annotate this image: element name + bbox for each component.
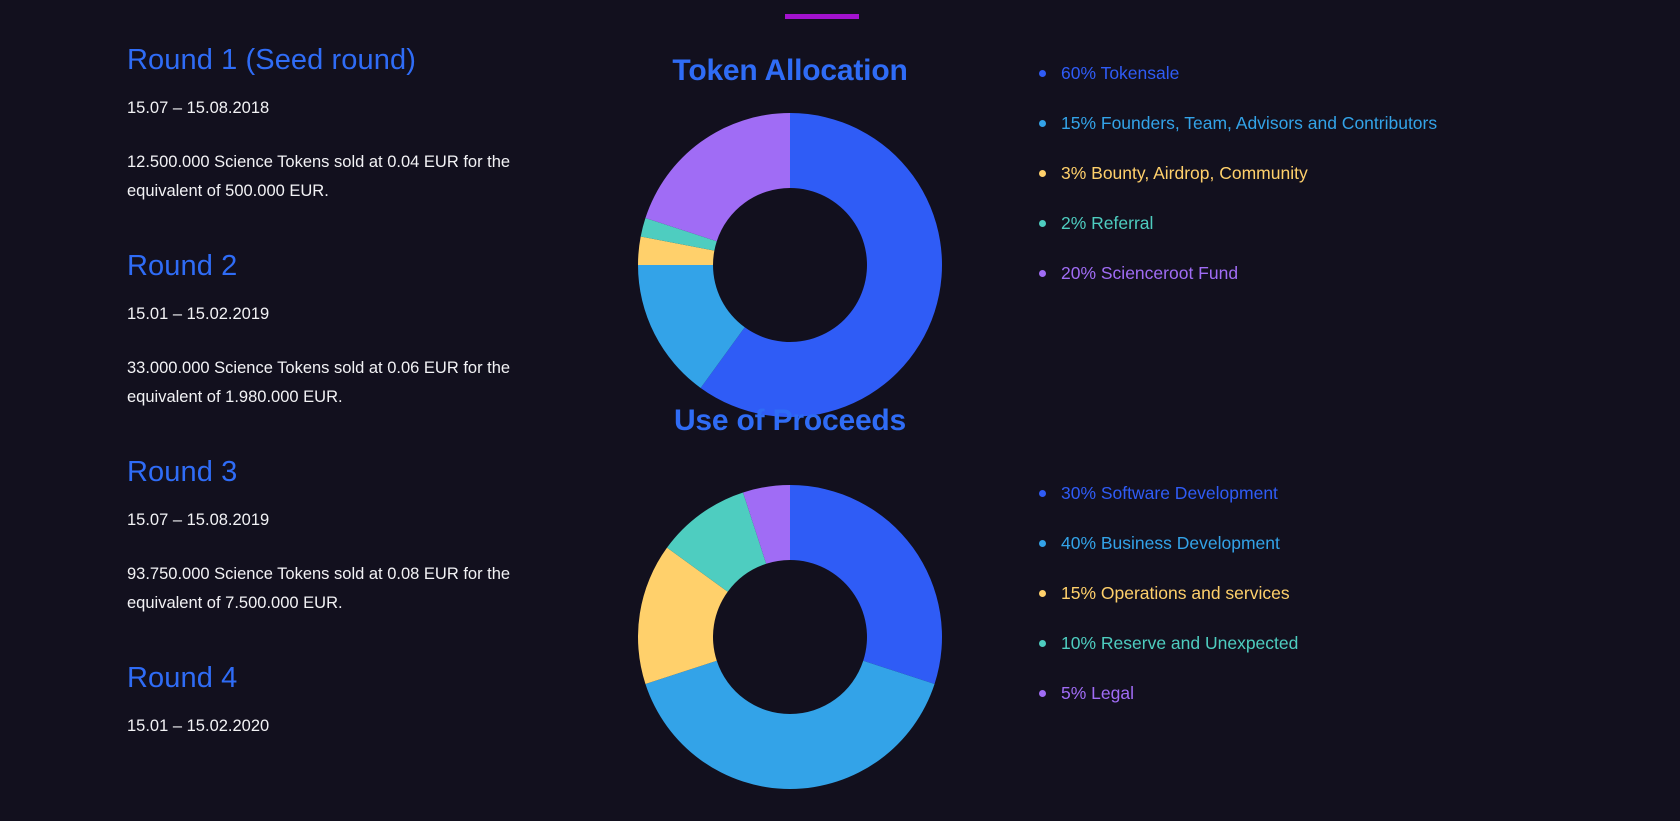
legend-item: 60% Tokensale [1035, 48, 1465, 98]
legend-label: 60% Tokensale [1061, 63, 1179, 83]
legend-item: 10% Reserve and Unexpected [1035, 618, 1465, 668]
round-block: Round 1 (Seed round) 15.07 – 15.08.2018 … [127, 38, 597, 206]
chart-title-use-of-proceeds: Use of Proceeds [585, 404, 995, 438]
legend-item: 15% Founders, Team, Advisors and Contrib… [1035, 98, 1465, 148]
donut-slice [790, 485, 942, 684]
donut-chart-token-allocation [585, 112, 995, 422]
donut-slice [645, 661, 934, 789]
round-title: Round 1 (Seed round) [127, 38, 597, 82]
chart-title-token-allocation: Token Allocation [585, 54, 995, 88]
legend-use-of-proceeds: 30% Software Development40% Business Dev… [1035, 468, 1465, 718]
legend-label: 10% Reserve and Unexpected [1061, 633, 1298, 653]
charts-column: Token Allocation Use of Proceeds [585, 0, 995, 821]
round-description: 93.750.000 Science Tokens sold at 0.08 E… [127, 560, 577, 618]
round-title: Round 3 [127, 450, 597, 494]
round-block: Round 4 15.01 – 15.02.2020 [127, 656, 597, 738]
legend-item: 30% Software Development [1035, 468, 1465, 518]
round-title: Round 2 [127, 244, 597, 288]
legend-bullet-icon [1039, 70, 1046, 77]
legend-token-allocation: 60% Tokensale15% Founders, Team, Advisor… [1035, 48, 1465, 298]
legend-label: 40% Business Development [1061, 533, 1280, 553]
legend-label: 30% Software Development [1061, 483, 1278, 503]
donut-svg [585, 112, 995, 422]
donut-chart-use-of-proceeds [585, 484, 995, 804]
legend-list: 60% Tokensale15% Founders, Team, Advisor… [1035, 48, 1465, 298]
legend-bullet-icon [1039, 690, 1046, 697]
round-date: 15.07 – 15.08.2018 [127, 96, 597, 120]
legend-bullet-icon [1039, 270, 1046, 277]
round-block: Round 3 15.07 – 15.08.2019 93.750.000 Sc… [127, 450, 597, 618]
round-title: Round 4 [127, 656, 597, 700]
legend-item: 5% Legal [1035, 668, 1465, 718]
round-date: 15.07 – 15.08.2019 [127, 508, 597, 532]
legend-bullet-icon [1039, 220, 1046, 227]
legend-label: 3% Bounty, Airdrop, Community [1061, 163, 1308, 183]
legend-item: 2% Referral [1035, 198, 1465, 248]
donut-slice [645, 113, 790, 241]
round-description: 12.500.000 Science Tokens sold at 0.04 E… [127, 148, 577, 206]
legend-label: 15% Operations and services [1061, 583, 1290, 603]
donut-svg [585, 484, 995, 804]
legend-label: 5% Legal [1061, 683, 1134, 703]
tokenomics-page: Round 1 (Seed round) 15.07 – 15.08.2018 … [0, 0, 1680, 821]
round-description: 33.000.000 Science Tokens sold at 0.06 E… [127, 354, 577, 412]
funding-rounds-column: Round 1 (Seed round) 15.07 – 15.08.2018 … [127, 38, 597, 744]
legend-bullet-icon [1039, 490, 1046, 497]
legend-bullet-icon [1039, 590, 1046, 597]
legend-item: 40% Business Development [1035, 518, 1465, 568]
legend-item: 15% Operations and services [1035, 568, 1465, 618]
legend-bullet-icon [1039, 540, 1046, 547]
legend-item: 3% Bounty, Airdrop, Community [1035, 148, 1465, 198]
legend-bullet-icon [1039, 640, 1046, 647]
legend-label: 2% Referral [1061, 213, 1153, 233]
legend-item: 20% Scienceroot Fund [1035, 248, 1465, 298]
legend-bullet-icon [1039, 120, 1046, 127]
legend-label: 15% Founders, Team, Advisors and Contrib… [1061, 113, 1437, 133]
round-date: 15.01 – 15.02.2020 [127, 714, 597, 738]
legend-list: 30% Software Development40% Business Dev… [1035, 468, 1465, 718]
round-date: 15.01 – 15.02.2019 [127, 302, 597, 326]
legend-label: 20% Scienceroot Fund [1061, 263, 1238, 283]
legend-bullet-icon [1039, 170, 1046, 177]
round-block: Round 2 15.01 – 15.02.2019 33.000.000 Sc… [127, 244, 597, 412]
